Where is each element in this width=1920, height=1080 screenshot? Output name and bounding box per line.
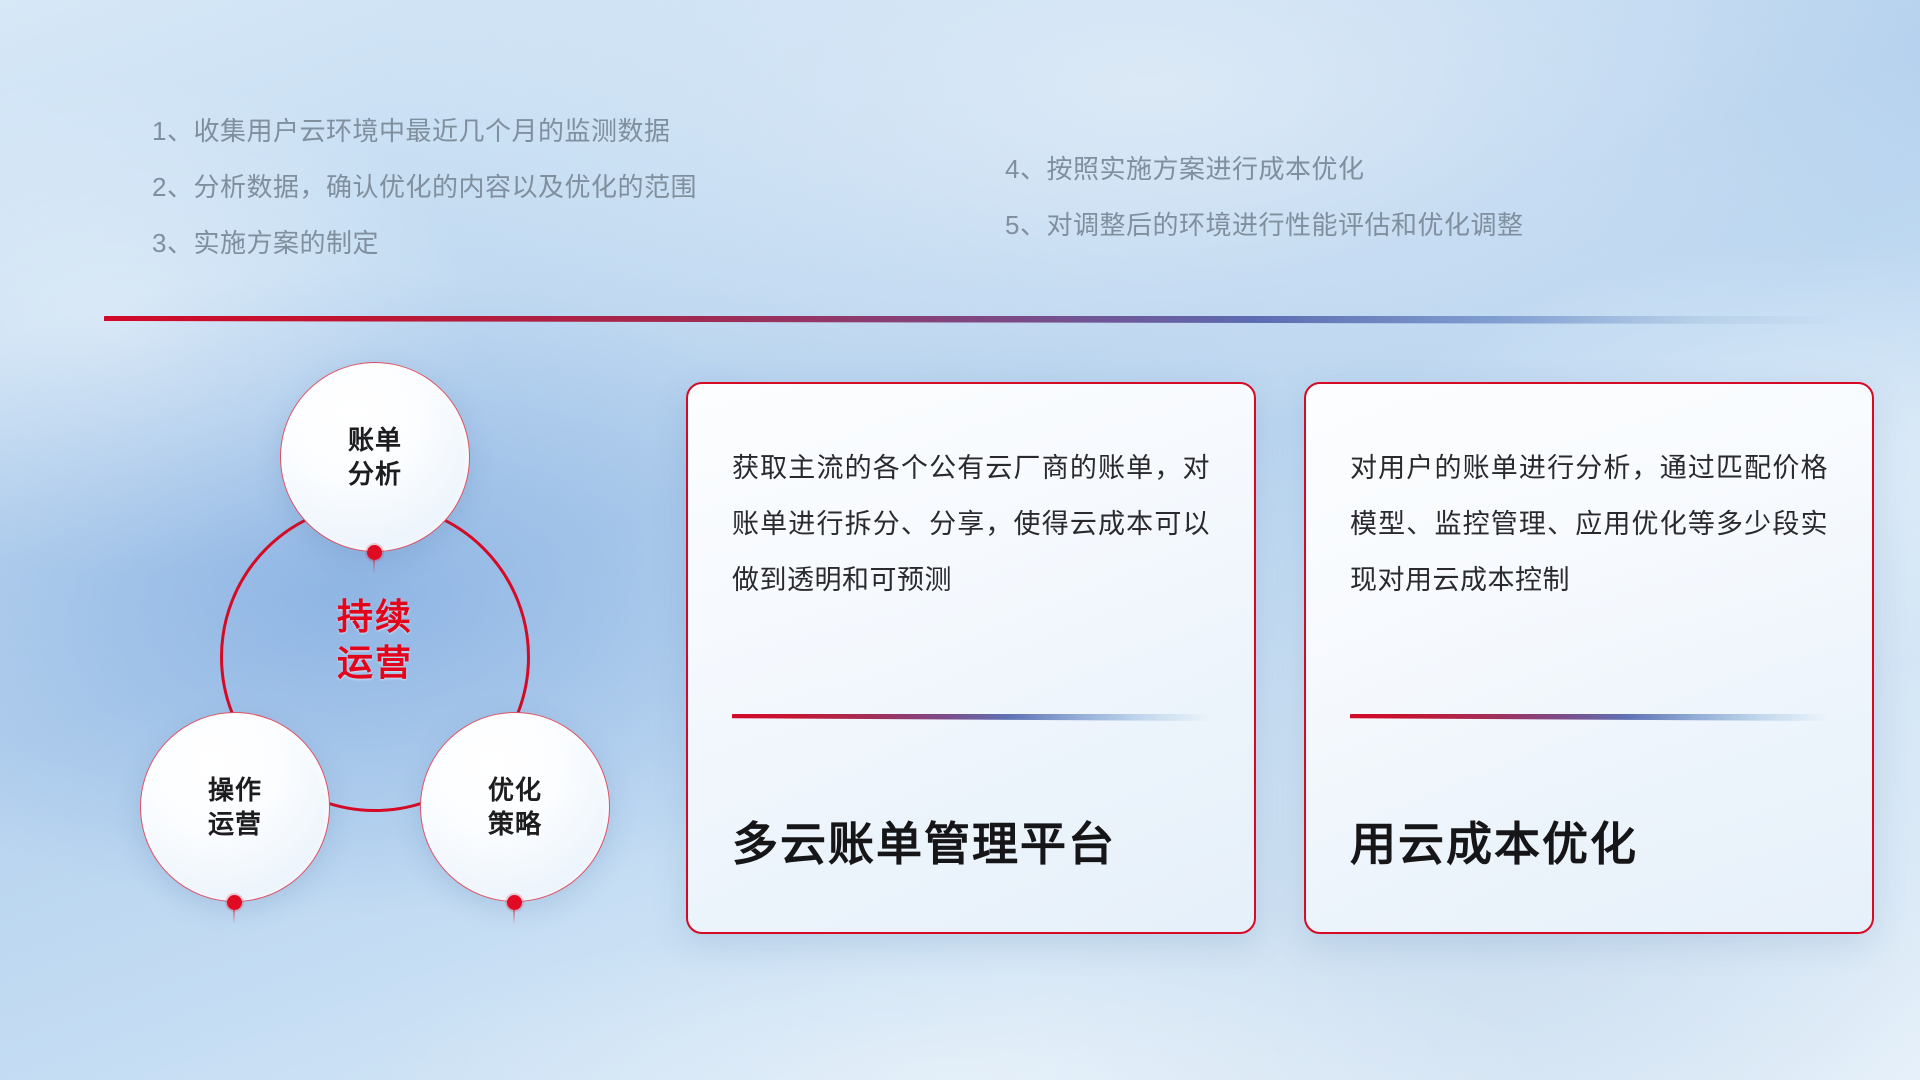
diagram-bubble-bill-analysis-text: 账单 分析 <box>348 423 402 492</box>
diagram-bubble-bill-analysis-line2: 分析 <box>348 457 402 491</box>
diagram-bubble-optimization-strategy-line2: 策略 <box>488 807 542 841</box>
feature-card-cost-optimization-body: 对用户的账单进行分析，通过匹配价格模型、监控管理、应用优化等多少段实现对用云成本… <box>1350 440 1828 690</box>
diagram-center-label-line2: 运营 <box>220 640 530 686</box>
continuous-operation-diagram: 持续 运营 账单 分析 操作 运营 优化 策略 <box>108 352 648 952</box>
diagram-bubble-operations-text: 操作 运营 <box>208 773 262 842</box>
diagram-node-dot-right <box>507 895 522 910</box>
diagram-node-dot-top <box>367 545 382 560</box>
feature-card-multicloud-billing-divider <box>732 714 1210 721</box>
header-divider <box>104 316 1844 324</box>
step-item-3: 3、实施方案的制定 <box>152 230 697 256</box>
feature-card-multicloud-billing[interactable]: 获取主流的各个公有云厂商的账单，对账单进行拆分、分享，使得云成本可以做到透明和可… <box>686 382 1256 934</box>
diagram-bubble-optimization-strategy[interactable]: 优化 策略 <box>420 712 610 902</box>
step-item-4: 4、按照实施方案进行成本优化 <box>1005 156 1523 182</box>
step-item-2: 2、分析数据，确认优化的内容以及优化的范围 <box>152 174 697 200</box>
steps-list-left: 1、收集用户云环境中最近几个月的监测数据 2、分析数据，确认优化的内容以及优化的… <box>152 118 697 256</box>
diagram-center-label-line1: 持续 <box>220 594 530 640</box>
step-item-5: 5、对调整后的环境进行性能评估和优化调整 <box>1005 212 1523 238</box>
feature-card-multicloud-billing-title: 多云账单管理平台 <box>732 817 1210 872</box>
diagram-bubble-bill-analysis-line1: 账单 <box>348 423 402 457</box>
header-divider-bar <box>104 316 1844 324</box>
diagram-bubble-operations[interactable]: 操作 运营 <box>140 712 330 902</box>
diagram-bubble-operations-line1: 操作 <box>208 773 262 807</box>
diagram-bubble-optimization-strategy-line1: 优化 <box>488 773 542 807</box>
diagram-bubble-bill-analysis[interactable]: 账单 分析 <box>280 362 470 552</box>
steps-list-right: 4、按照实施方案进行成本优化 5、对调整后的环境进行性能评估和优化调整 <box>1005 156 1523 238</box>
feature-card-cost-optimization-divider <box>1350 714 1828 721</box>
step-item-1: 1、收集用户云环境中最近几个月的监测数据 <box>152 118 697 144</box>
diagram-bubble-operations-line2: 运营 <box>208 807 262 841</box>
diagram-connector-top-tick <box>373 558 375 574</box>
diagram-connector-right-tick <box>513 908 515 924</box>
diagram-bubble-optimization-strategy-text: 优化 策略 <box>488 773 542 842</box>
feature-card-cost-optimization[interactable]: 对用户的账单进行分析，通过匹配价格模型、监控管理、应用优化等多少段实现对用云成本… <box>1304 382 1874 934</box>
diagram-node-dot-left <box>227 895 242 910</box>
diagram-connector-left-tick <box>233 908 235 924</box>
feature-card-cost-optimization-title: 用云成本优化 <box>1350 817 1828 872</box>
diagram-center-label: 持续 运营 <box>220 594 530 686</box>
feature-card-multicloud-billing-body: 获取主流的各个公有云厂商的账单，对账单进行拆分、分享，使得云成本可以做到透明和可… <box>732 440 1210 690</box>
slide-canvas: 1、收集用户云环境中最近几个月的监测数据 2、分析数据，确认优化的内容以及优化的… <box>0 0 1920 1080</box>
